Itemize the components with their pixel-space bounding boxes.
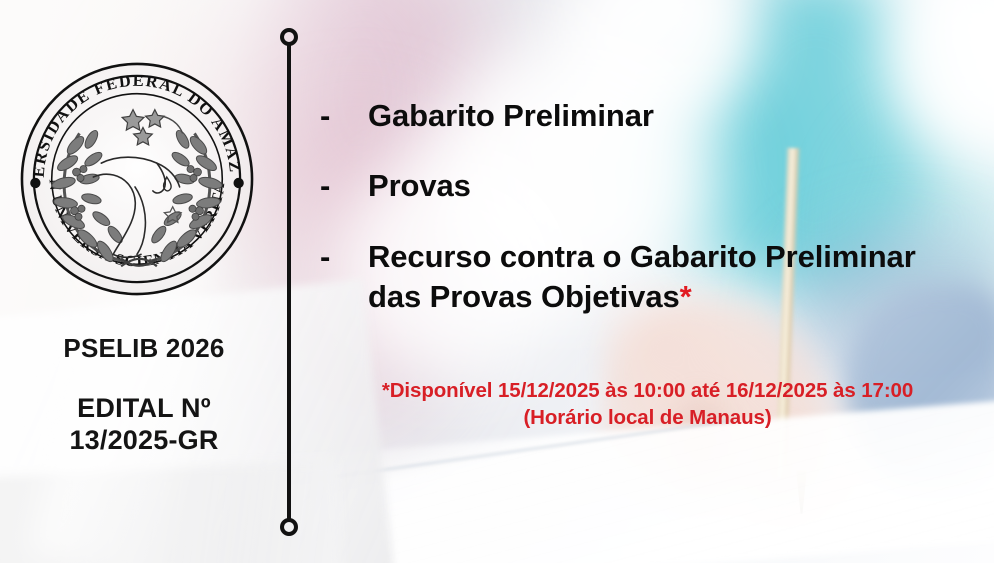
list-item-label: Provas	[368, 166, 970, 206]
list-item-label: Recurso contra o Gabarito Preliminar das…	[368, 239, 916, 314]
bullet-dash-icon: -	[320, 96, 368, 136]
footnote-note: *Disponível 15/12/2025 às 10:00 até 16/1…	[320, 378, 975, 431]
footnote-line-2: (Horário local de Manaus)	[320, 405, 975, 432]
list-item: - Gabarito Preliminar	[320, 96, 970, 136]
timeline-dot-bottom-icon	[280, 518, 298, 536]
list-item: - Recurso contra o Gabarito Preliminar d…	[320, 237, 970, 318]
poster-canvas: UNIVERSIDADE FEDERAL DO AMAZONAS IN UNIV…	[0, 0, 994, 563]
announcement-list: - Gabarito Preliminar - Provas - Recurso…	[320, 96, 970, 347]
footnote-line-1: *Disponível 15/12/2025 às 10:00 até 16/1…	[320, 378, 975, 405]
list-item-label: Gabarito Preliminar	[368, 96, 970, 136]
bullet-dash-icon: -	[320, 166, 368, 206]
list-item: - Provas	[320, 166, 970, 206]
footnote-asterisk-marker: *	[680, 279, 692, 314]
edital-line-1: EDITAL Nº	[0, 393, 288, 425]
list-item-label-wrapper: Recurso contra o Gabarito Preliminar das…	[368, 237, 970, 318]
bullet-dash-icon: -	[320, 237, 368, 277]
timeline-divider	[280, 28, 298, 536]
pselib-title: PSELIB 2026	[0, 333, 288, 364]
poster-content: UNIVERSIDADE FEDERAL DO AMAZONAS IN UNIV…	[0, 0, 994, 563]
ufam-seal: UNIVERSIDADE FEDERAL DO AMAZONAS IN UNIV…	[18, 60, 256, 298]
timeline-vertical-line	[287, 43, 291, 521]
edital-line-2: 13/2025-GR	[0, 425, 288, 457]
edital-title: EDITAL Nº 13/2025-GR	[0, 393, 288, 457]
